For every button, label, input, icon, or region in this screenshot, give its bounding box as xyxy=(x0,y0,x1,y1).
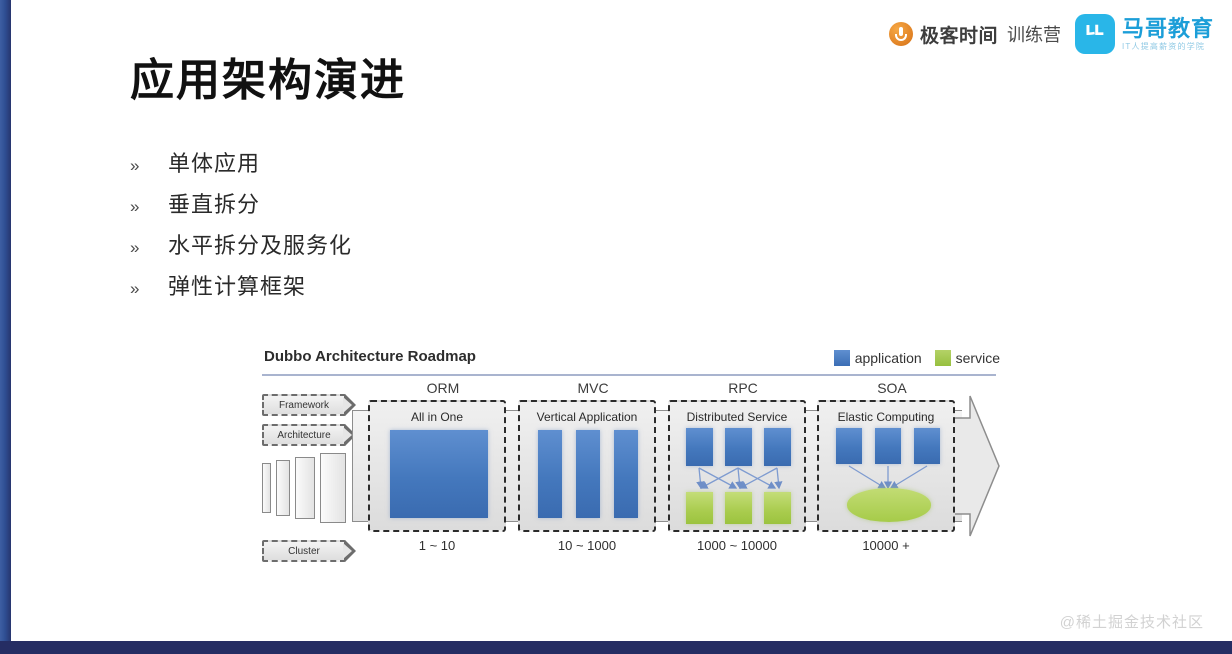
bottom-accent-bar xyxy=(0,641,1232,654)
chevron-double-right-icon: » xyxy=(130,197,168,217)
stage-name-orm: ORM xyxy=(368,380,518,396)
application-block xyxy=(614,430,638,518)
geektime-logo: 极客时间 训练营 xyxy=(889,21,1061,48)
list-item-label: 弹性计算框架 xyxy=(168,269,306,301)
legend-item-service: service xyxy=(935,350,1000,366)
arrow-right-icon xyxy=(345,540,356,562)
cluster-bar xyxy=(276,460,290,516)
elastic-cloud xyxy=(847,488,931,522)
stage-name-row: ORM MVC RPC SOA xyxy=(362,380,998,400)
stage-card-elastic-computing: Elastic Computing xyxy=(817,400,955,532)
stage-name-rpc: RPC xyxy=(668,380,818,396)
cluster-bar xyxy=(295,457,315,519)
stage-card-title: All in One xyxy=(370,410,504,424)
stage-name-mvc: MVC xyxy=(518,380,668,396)
stage-caption-elastic-computing: 10000 + xyxy=(817,538,955,553)
bullet-list: » 单体应用 » 垂直拆分 » 水平拆分及服务化 » 弹性计算框架 xyxy=(130,146,352,310)
magedu-logo: ᄔ 马哥教育 IT人提高薪资的学院 xyxy=(1075,14,1214,54)
cluster-growth-bars xyxy=(262,452,346,524)
stage-card-title: Vertical Application xyxy=(520,410,654,424)
stage-card-all-in-one: All in One xyxy=(368,400,506,532)
magedu-mark-icon: ᄔ xyxy=(1075,14,1115,54)
cluster-bar xyxy=(320,453,346,523)
chevron-double-right-icon: » xyxy=(130,156,168,176)
stage-caption-distributed-service: 1000 ~ 10000 xyxy=(668,538,806,553)
service-block xyxy=(686,492,713,524)
application-block xyxy=(576,430,600,518)
diagram-title: Dubbo Architecture Roadmap xyxy=(264,348,476,365)
list-item: » 水平拆分及服务化 xyxy=(130,228,352,269)
geektime-camp-label: 训练营 xyxy=(1007,21,1061,47)
legend-swatch-icon xyxy=(935,350,951,366)
cluster-bar xyxy=(262,463,271,513)
application-block xyxy=(390,430,488,518)
application-block xyxy=(538,430,562,518)
diagram-legend: application service xyxy=(834,350,1000,366)
service-block xyxy=(764,492,791,524)
header-logos: 极客时间 训练营 ᄔ 马哥教育 IT人提高薪资的学院 xyxy=(889,14,1214,54)
geektime-wordmark: 极客时间 xyxy=(920,21,998,48)
row-tag-cluster: Cluster xyxy=(262,540,346,562)
diagram-divider xyxy=(262,374,996,376)
list-item: » 弹性计算框架 xyxy=(130,269,352,310)
chevron-double-right-icon: » xyxy=(130,238,168,258)
row-tag-label: Architecture xyxy=(277,430,330,441)
legend-swatch-icon xyxy=(834,350,850,366)
legend-item-application: application xyxy=(834,350,922,366)
list-item-label: 垂直拆分 xyxy=(168,187,260,219)
row-tag-framework: Framework xyxy=(262,394,346,416)
legend-label: application xyxy=(855,350,922,366)
dubbo-roadmap-diagram: Dubbo Architecture Roadmap application s… xyxy=(256,344,1002,576)
row-tag-label: Framework xyxy=(279,400,329,411)
list-item: » 单体应用 xyxy=(130,146,352,187)
slide-canvas: 极客时间 训练营 ᄔ 马哥教育 IT人提高薪资的学院 应用架构演进 » 单体应用… xyxy=(0,0,1232,654)
row-tag-architecture: Architecture xyxy=(262,424,346,446)
geektime-mark-icon xyxy=(889,22,913,46)
list-item-label: 水平拆分及服务化 xyxy=(168,228,352,260)
stage-caption-vertical-application: 10 ~ 1000 xyxy=(518,538,656,553)
list-item-label: 单体应用 xyxy=(168,146,260,178)
chevron-double-right-icon: » xyxy=(130,279,168,299)
left-accent-bar xyxy=(0,0,11,654)
legend-label: service xyxy=(956,350,1000,366)
magedu-glyph: ᄔ xyxy=(1075,14,1115,54)
stage-card-distributed-service: Distributed Service xyxy=(668,400,806,532)
page-title: 应用架构演进 xyxy=(130,44,406,108)
stage-card-vertical-application: Vertical Application xyxy=(518,400,656,532)
magedu-wordmark: 马哥教育 IT人提高薪资的学院 xyxy=(1122,18,1214,51)
row-tag-label: Cluster xyxy=(288,546,320,557)
service-block xyxy=(725,492,752,524)
magedu-title: 马哥教育 xyxy=(1122,18,1214,40)
list-item: » 垂直拆分 xyxy=(130,187,352,228)
stage-caption-all-in-one: 1 ~ 10 xyxy=(368,538,506,553)
watermark: @稀土掘金技术社区 xyxy=(1060,611,1204,632)
magedu-tagline: IT人提高薪资的学院 xyxy=(1122,43,1214,51)
